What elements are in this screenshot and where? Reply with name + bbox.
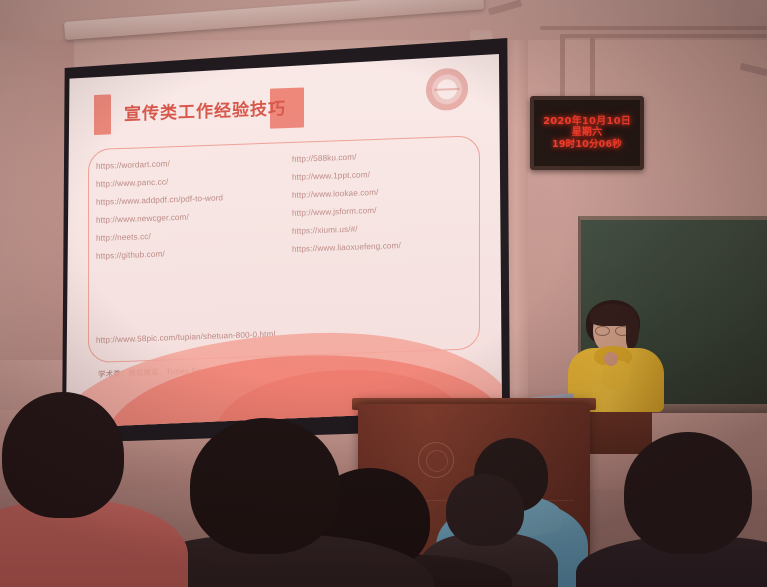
audience-torso xyxy=(0,500,188,587)
slide-content: 宣传类工作经验技巧 https://wordart.com/ http://ww… xyxy=(66,54,502,428)
link-item[interactable]: http://neets.cc/ xyxy=(96,227,280,243)
link-item[interactable]: https://wordart.com/ xyxy=(96,155,280,171)
left-wall xyxy=(0,0,74,360)
link-item[interactable]: http://www.lookae.com/ xyxy=(292,184,476,200)
led-date: 2020年10月10日 xyxy=(543,117,631,128)
audience-head xyxy=(2,392,124,518)
link-item[interactable]: http://www.jsform.com/ xyxy=(292,202,476,218)
link-item[interactable]: http://www.1ppt.com/ xyxy=(292,166,476,182)
link-item[interactable]: http://www.panc.cc/ xyxy=(96,173,280,189)
lecture-hall-scene: 宣传类工作经验技巧 https://wordart.com/ http://ww… xyxy=(0,0,767,587)
link-item[interactable]: http://www.newcger.com/ xyxy=(96,209,280,225)
audience-head xyxy=(190,418,340,554)
link-column-right: http://588ku.com/ http://www.1ppt.com/ h… xyxy=(292,139,476,352)
title-accent-bar-left xyxy=(94,94,111,135)
audience-member-front-left xyxy=(0,392,160,587)
slide-title-row: 宣传类工作经验技巧 xyxy=(94,82,454,137)
speaker-hand xyxy=(604,352,618,366)
link-item[interactable]: http://588ku.com/ xyxy=(292,148,476,164)
link-item[interactable]: https://xiumi.us/#/ xyxy=(292,220,476,236)
link-column-left: https://wordart.com/ http://www.panc.cc/… xyxy=(96,146,280,359)
speaker-person xyxy=(560,300,672,410)
link-item[interactable]: https://github.com/ xyxy=(96,245,280,261)
ceiling-conduit xyxy=(540,26,767,30)
speaker-glasses-icon xyxy=(595,326,630,334)
audience-head xyxy=(624,432,752,554)
audience-member-center-left xyxy=(160,418,390,587)
link-item[interactable]: https://www.addpdf.cn/pdf-to-word xyxy=(96,191,280,207)
slide-title: 宣传类工作经验技巧 xyxy=(124,94,286,125)
audience-member-far-right xyxy=(600,432,767,587)
link-columns: https://wordart.com/ http://www.panc.cc/… xyxy=(96,139,476,359)
led-weekday: 星期六 xyxy=(572,128,603,139)
link-item[interactable]: https://www.liaoxuefeng.com/ xyxy=(292,238,476,254)
presentation-slide: 宣传类工作经验技巧 https://wordart.com/ http://ww… xyxy=(66,54,502,428)
led-clock-display: 2020年10月10日 星期六 19时10分06秒 xyxy=(530,96,644,170)
led-time: 19时10分06秒 xyxy=(552,140,622,150)
